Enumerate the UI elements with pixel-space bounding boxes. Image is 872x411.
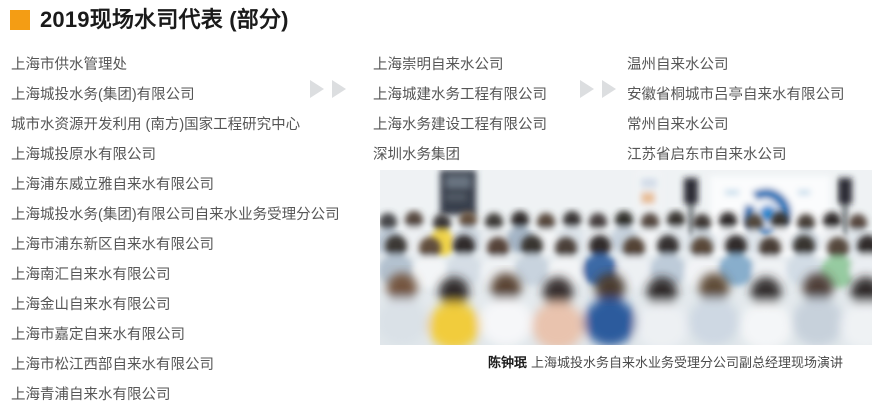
list-item: 上海市浦东新区自来水有限公司 (11, 230, 340, 260)
list-item: 上海水务建设工程有限公司 (373, 110, 547, 140)
list-item: 上海市供水管理处 (11, 50, 340, 80)
page-title-row: 2019现场水司代表 (部分) (10, 9, 289, 31)
list-item: 安徽省桐城市吕亭自来水有限公司 (627, 80, 845, 110)
list-item: 上海青浦自来水有限公司 (11, 380, 340, 410)
company-list-column-1: 上海市供水管理处 上海城投水务(集团)有限公司 城市水资源开发利用 (南方)国家… (11, 50, 340, 410)
triangle-right-icon (332, 80, 346, 98)
arrow-group-2 (580, 80, 616, 98)
photo-caption: 陈钟珉上海城投水务自来水业务受理分公司副总经理现场演讲 (488, 352, 843, 371)
list-item: 江苏省启东市自来水公司 (627, 140, 845, 170)
company-list-column-3: 温州自来水公司 安徽省桐城市吕亭自来水有限公司 常州自来水公司 江苏省启东市自来… (627, 50, 845, 170)
list-item: 上海市嘉定自来水有限公司 (11, 320, 340, 350)
orange-square-marker (10, 10, 30, 30)
list-item: 上海崇明自来水公司 (373, 50, 547, 80)
list-item: 深圳水务集团 (373, 140, 547, 170)
list-item: 温州自来水公司 (627, 50, 845, 80)
list-item: 上海市松江西部自来水有限公司 (11, 350, 340, 380)
list-item: 常州自来水公司 (627, 110, 845, 140)
page-title: 2019现场水司代表 (部分) (40, 9, 289, 31)
triangle-right-icon (310, 80, 324, 98)
caption-speaker-name: 陈钟珉 (488, 355, 527, 370)
list-item: 上海城投水务(集团)有限公司自来水业务受理分公司 (11, 200, 340, 230)
list-item: 上海城投水务(集团)有限公司 (11, 80, 340, 110)
list-item: 上海南汇自来水有限公司 (11, 260, 340, 290)
list-item: 上海城建水务工程有限公司 (373, 80, 547, 110)
list-item: 城市水资源开发利用 (南方)国家工程研究中心 (11, 110, 340, 140)
triangle-right-icon (602, 80, 616, 98)
company-list-column-2: 上海崇明自来水公司 上海城建水务工程有限公司 上海水务建设工程有限公司 深圳水务… (373, 50, 547, 170)
list-item: 上海浦东威立雅自来水有限公司 (11, 170, 340, 200)
caption-description: 上海城投水务自来水业务受理分公司副总经理现场演讲 (531, 355, 843, 370)
triangle-right-icon (580, 80, 594, 98)
arrow-group-1 (310, 80, 346, 98)
list-item: 上海城投原水有限公司 (11, 140, 340, 170)
list-item: 上海金山自来水有限公司 (11, 290, 340, 320)
conference-audience-photo (380, 170, 872, 345)
